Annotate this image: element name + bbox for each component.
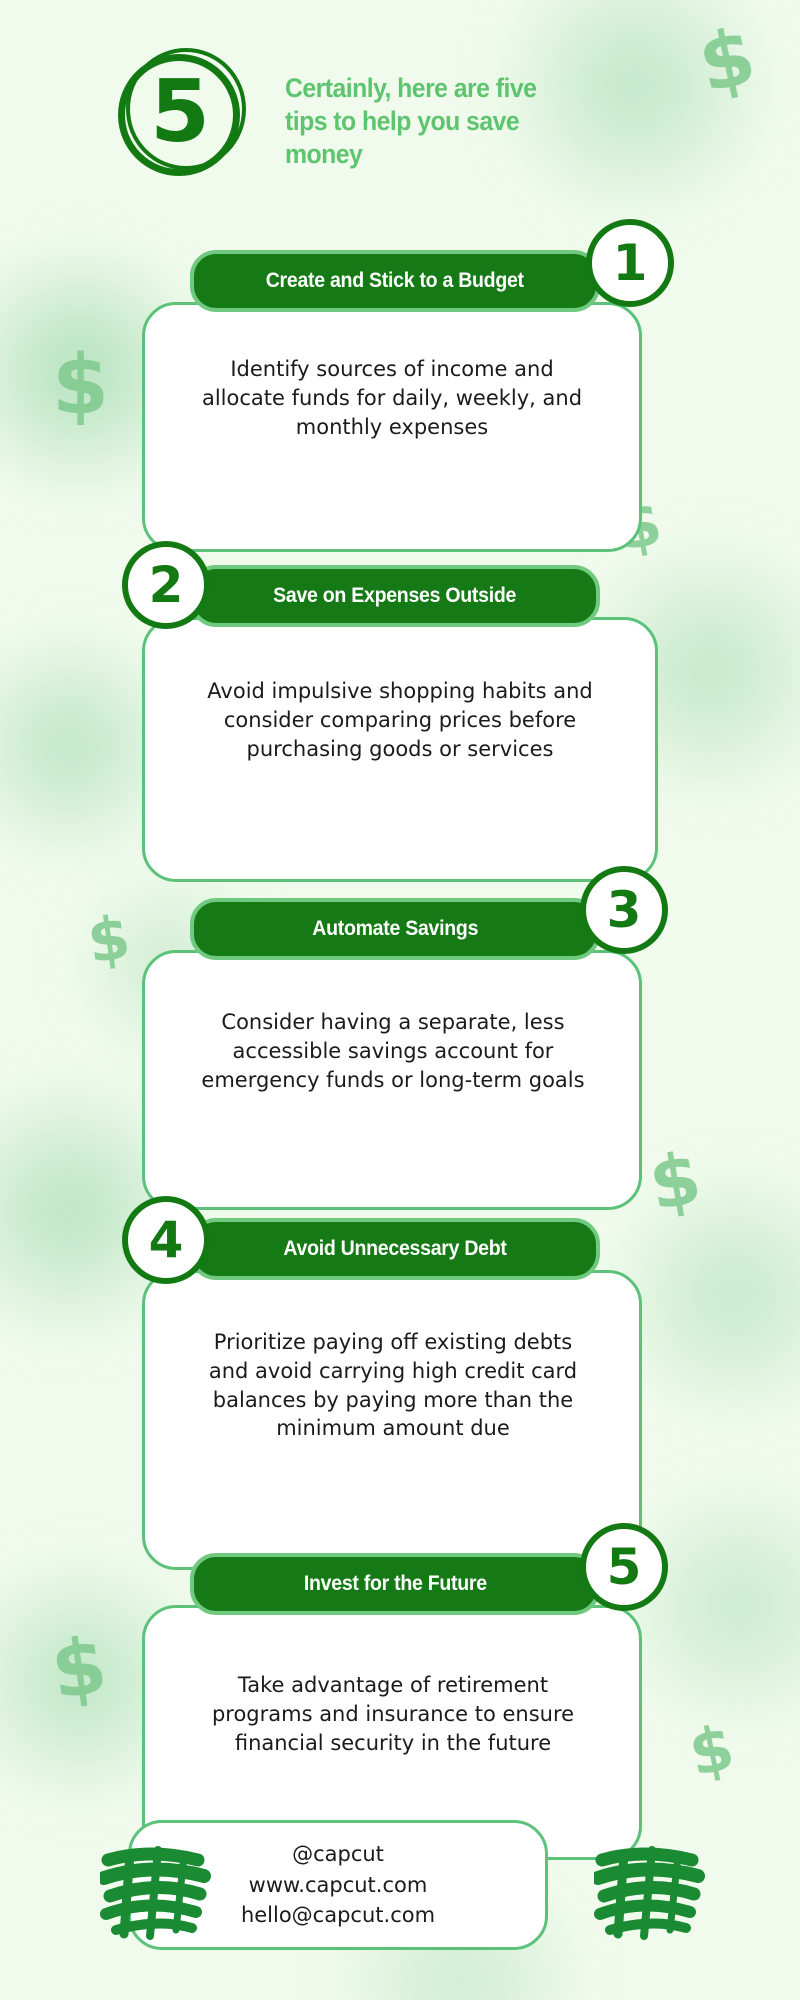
body-line: balances by paying more than the: [152, 1386, 634, 1415]
brush-stroke-right-icon: [594, 1830, 714, 1945]
card-body-text: Prioritize paying off existing debts and…: [152, 1328, 634, 1443]
card-heading-text: Automate Savings: [312, 917, 478, 941]
body-line: consider comparing prices before: [152, 706, 648, 735]
hero-number-circle: 5: [118, 48, 246, 176]
footer-website[interactable]: www.capcut.com: [249, 1870, 428, 1900]
body-line: programs and insurance to ensure: [152, 1700, 634, 1729]
card-heading-text: Create and Stick to a Budget: [266, 269, 524, 293]
body-line: minimum amount due: [152, 1414, 634, 1443]
card-heading-text: Save on Expenses Outside: [274, 584, 517, 608]
title-line-3: money: [285, 138, 653, 171]
card-number-badge: 2: [122, 541, 210, 629]
hero-header: 5 Certainly, here are five tips to help …: [0, 0, 800, 225]
card-body-text: Avoid impulsive shopping habits and cons…: [152, 677, 648, 763]
card-heading-bar: Automate Savings: [190, 898, 600, 960]
body-line: emergency funds or long-term goals: [152, 1066, 634, 1095]
page-title: Certainly, here are five tips to help yo…: [285, 72, 653, 171]
card-number: 1: [613, 238, 648, 288]
body-line: Identify sources of income and: [162, 355, 622, 384]
card-heading-bar: Save on Expenses Outside: [190, 565, 600, 627]
dollar-sign-icon: $: [52, 345, 109, 427]
title-line-2: tips to help you save: [285, 105, 653, 138]
brush-stroke-left-icon: [100, 1830, 220, 1945]
card-heading-bar: Create and Stick to a Budget: [190, 250, 600, 312]
body-line: Avoid impulsive shopping habits and: [152, 677, 648, 706]
card-number: 5: [607, 1542, 642, 1592]
footer-email[interactable]: hello@capcut.com: [241, 1900, 435, 1930]
body-line: Take advantage of retirement: [152, 1671, 634, 1700]
card-heading-bar: Avoid Unnecessary Debt: [190, 1218, 600, 1280]
hero-number: 5: [118, 48, 240, 176]
card-body-text: Consider having a separate, less accessi…: [152, 1008, 634, 1094]
body-line: monthly expenses: [162, 413, 622, 442]
card-number: 4: [149, 1215, 184, 1265]
card-heading-bar: Invest for the Future: [190, 1553, 600, 1615]
dollar-sign-icon: $: [84, 907, 134, 972]
dollar-sign-icon: $: [644, 1141, 706, 1221]
card-number-badge: 4: [122, 1196, 210, 1284]
body-line: allocate funds for daily, weekly, and: [162, 384, 622, 413]
dollar-sign-icon: $: [684, 1716, 739, 1786]
card-number: 3: [607, 885, 642, 935]
body-line: accessible savings account for: [152, 1037, 634, 1066]
footer-handle[interactable]: @capcut: [292, 1839, 384, 1869]
card-heading-text: Avoid Unnecessary Debt: [283, 1237, 506, 1261]
dollar-sign-icon: $: [47, 1627, 112, 1712]
body-line: Prioritize paying off existing debts: [152, 1328, 634, 1357]
card-number-badge: 1: [586, 219, 674, 307]
card-number-badge: 5: [580, 1523, 668, 1611]
card-body-text: Identify sources of income and allocate …: [162, 355, 622, 441]
card-number-badge: 3: [580, 866, 668, 954]
body-line: and avoid carrying high credit card: [152, 1357, 634, 1386]
body-line: financial security in the future: [152, 1729, 634, 1758]
infographic-page: $ $ $ $ $ $ $ 5 Certainly, here are five…: [0, 0, 800, 2000]
title-line-1: Certainly, here are five: [285, 72, 653, 105]
body-line: purchasing goods or services: [152, 735, 648, 764]
card-heading-text: Invest for the Future: [304, 1572, 487, 1596]
card-body-text: Take advantage of retirement programs an…: [152, 1671, 634, 1757]
body-line: Consider having a separate, less: [152, 1008, 634, 1037]
card-number: 2: [149, 560, 184, 610]
